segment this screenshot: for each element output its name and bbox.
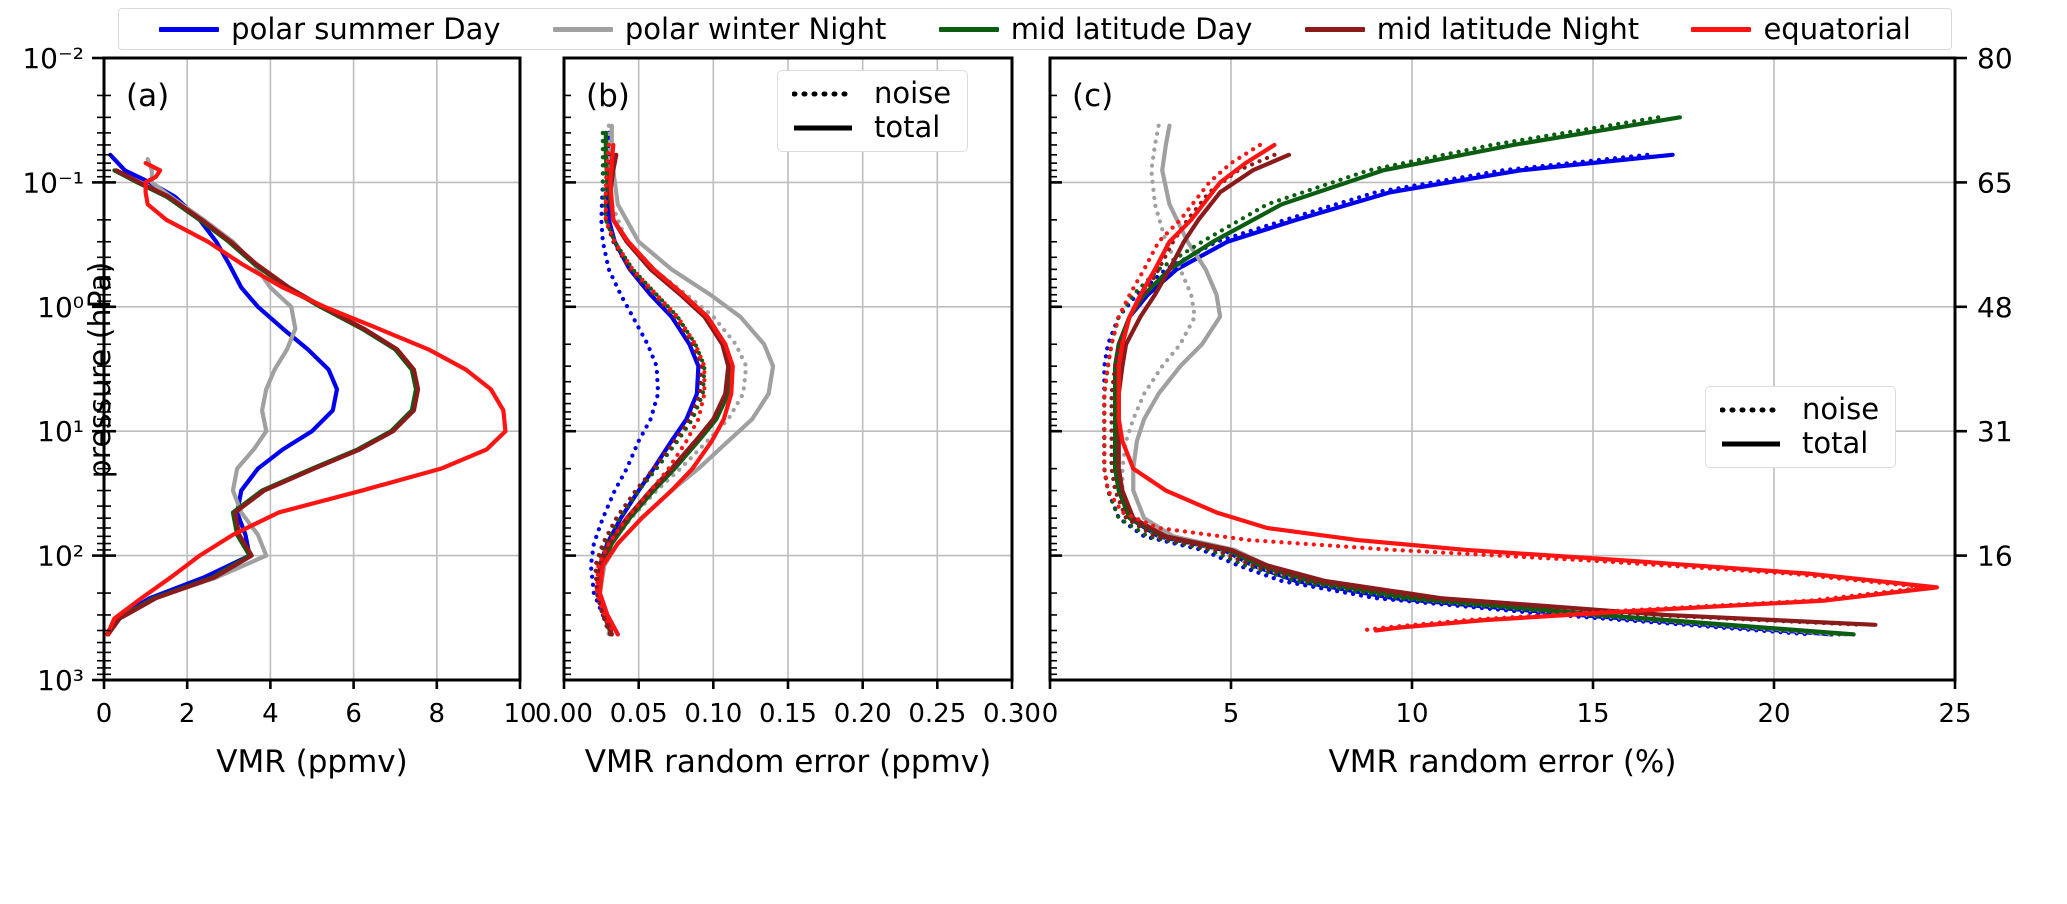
y-tick-label: 10⁻¹ xyxy=(22,166,84,199)
x-axis-title: VMR random error (%) xyxy=(1329,744,1677,780)
altitude-tick-label: 65 xyxy=(1977,166,2013,199)
series-line xyxy=(598,126,746,635)
series-line xyxy=(107,163,505,634)
x-tick-label: 2 xyxy=(179,699,196,729)
x-tick-label: 25 xyxy=(1938,699,1971,729)
figure-root: polar summer Daypolar winter Nightmid la… xyxy=(0,0,2067,904)
panel-tag: (a) xyxy=(126,78,169,114)
x-tick-label: 6 xyxy=(345,699,362,729)
x-tick-label: 5 xyxy=(1223,699,1240,729)
altitude-tick-label: 16 xyxy=(1977,540,2013,573)
x-axis-title: VMR random error (ppmv) xyxy=(585,744,991,780)
legend-row-noise: noise xyxy=(1720,395,1879,424)
series-line xyxy=(1115,117,1853,634)
legend-label-total: total xyxy=(874,113,940,142)
solid-line-swatch xyxy=(1720,440,1782,448)
x-tick-label: 10 xyxy=(503,699,536,729)
x-tick-label: 15 xyxy=(1576,699,1609,729)
x-tick-label: 4 xyxy=(262,699,279,729)
series-line xyxy=(600,126,773,635)
x-tick-label: 0.00 xyxy=(535,699,593,729)
x-tick-label: 20 xyxy=(1757,699,1790,729)
y-tick-label: 10⁰ xyxy=(37,291,84,324)
legend-row-total: total xyxy=(1720,429,1879,458)
panel-tag: (c) xyxy=(1072,78,1113,114)
panel-c-noise-total-legend: noise total xyxy=(1705,386,1896,468)
altitude-tick-label: 48 xyxy=(1977,291,2013,324)
y-tick-label: 10² xyxy=(37,540,84,573)
series-line xyxy=(108,159,295,634)
y-tick-label: 10⁻² xyxy=(22,42,84,75)
dotted-line-swatch xyxy=(792,90,854,98)
x-tick-label: 0.15 xyxy=(759,699,817,729)
x-tick-label: 0.05 xyxy=(610,699,668,729)
x-tick-label: 0.30 xyxy=(983,699,1041,729)
legend-row-noise: noise xyxy=(792,79,951,108)
x-tick-label: 0.25 xyxy=(908,699,966,729)
x-tick-label: 10 xyxy=(1395,699,1428,729)
legend-label-noise: noise xyxy=(1802,395,1879,424)
legend-row-total: total xyxy=(792,113,951,142)
x-axis-title: VMR (ppmv) xyxy=(216,744,407,780)
legend-label-total: total xyxy=(1802,429,1868,458)
altitude-tick-label: 31 xyxy=(1977,415,2013,448)
solid-line-swatch xyxy=(792,124,854,132)
panel-tag: (b) xyxy=(586,78,630,114)
x-tick-label: 8 xyxy=(429,699,446,729)
y-tick-label: 10¹ xyxy=(37,415,84,448)
x-tick-label: 0 xyxy=(1042,699,1059,729)
altitude-tick-label: 80 xyxy=(1977,42,2013,75)
series-line xyxy=(1104,117,1839,634)
panel-b-noise-total-legend: noise total xyxy=(777,70,968,152)
x-tick-label: 0.10 xyxy=(684,699,742,729)
x-tick-label: 0.20 xyxy=(834,699,892,729)
series-line xyxy=(600,133,699,635)
x-tick-label: 0 xyxy=(96,699,113,729)
dotted-line-swatch xyxy=(1720,406,1782,414)
y-tick-label: 10³ xyxy=(37,664,84,697)
series-line xyxy=(108,155,337,635)
legend-label-noise: noise xyxy=(874,79,951,108)
